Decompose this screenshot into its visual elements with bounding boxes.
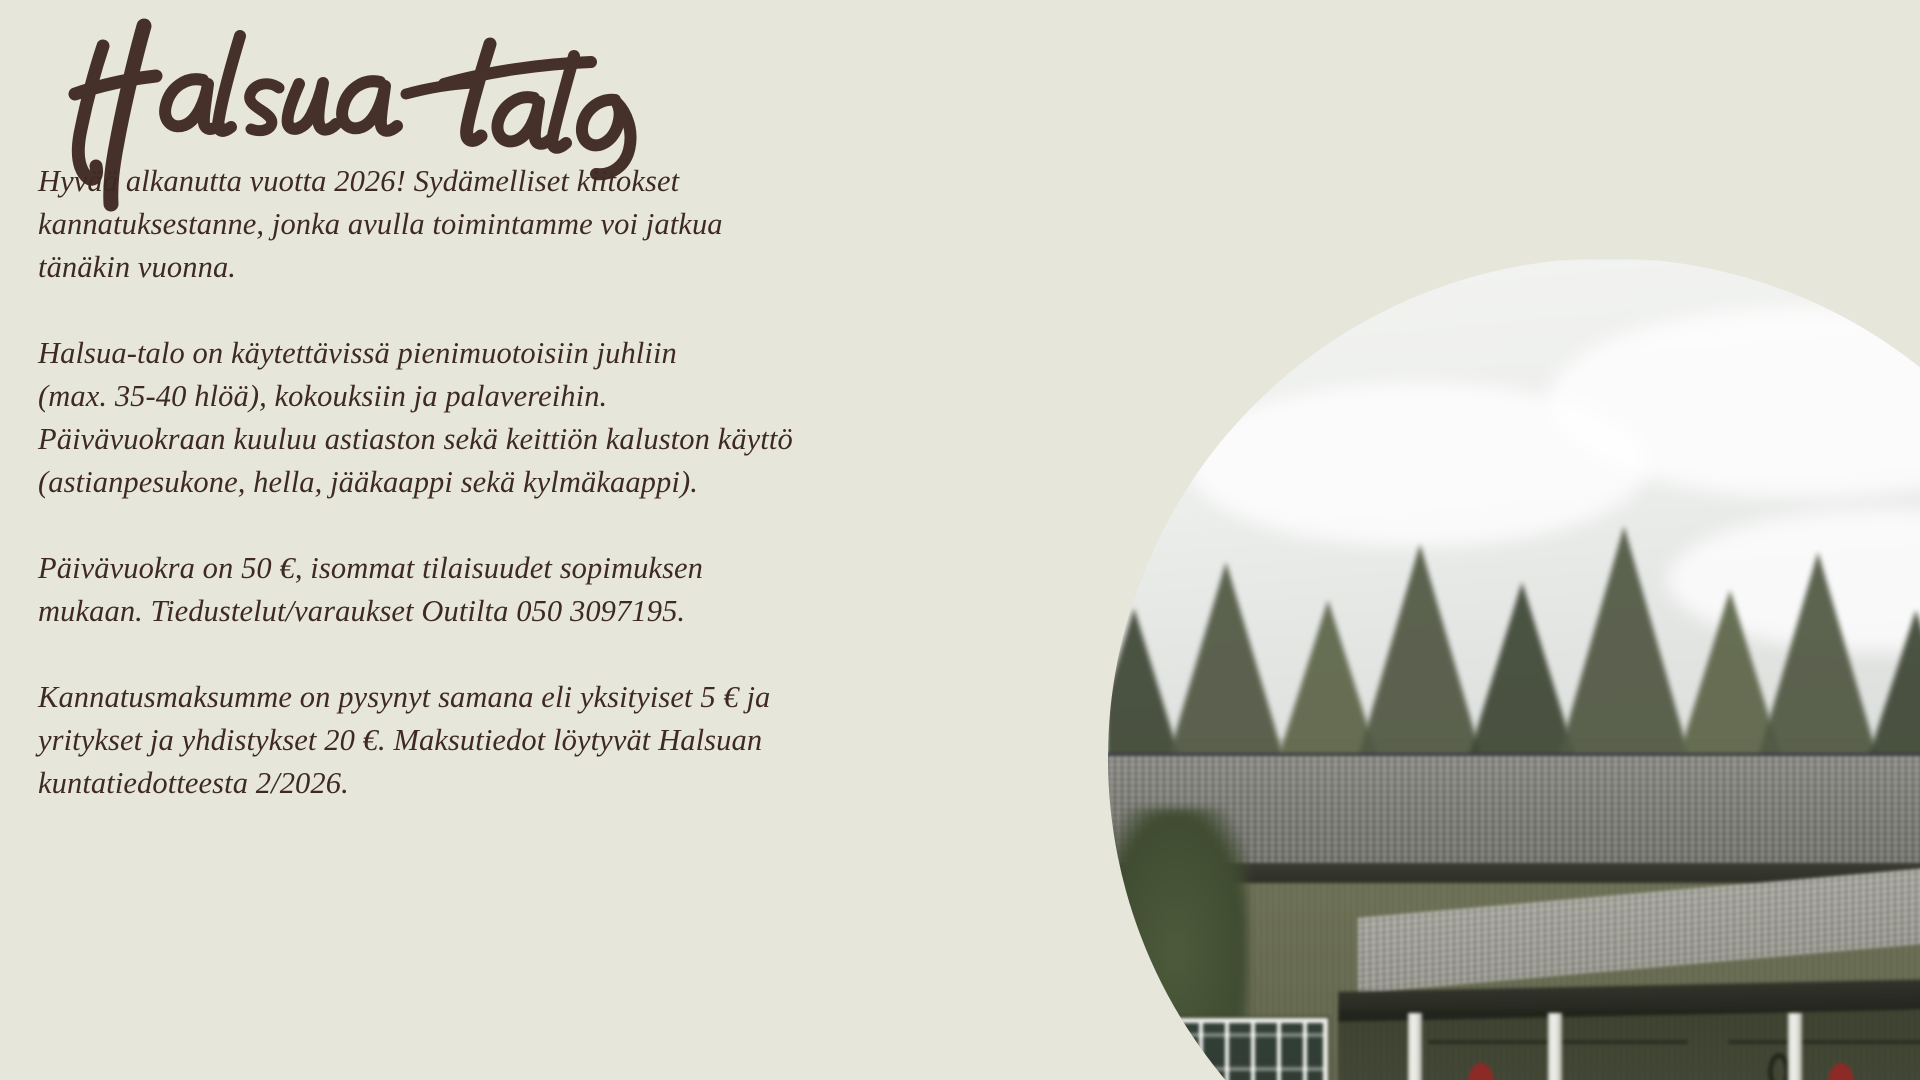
text-line: Hyvää alkanutta vuotta 2026! Sydämellise…	[38, 160, 898, 203]
porch-column	[1408, 1013, 1422, 1080]
building-photo	[1108, 258, 1920, 1080]
text-line: (astianpesukone, hella, jääkaappi sekä k…	[38, 461, 898, 504]
text-line: Päivävuokraan kuuluu astiaston sekä keit…	[38, 418, 898, 461]
text-line: Kannatusmaksumme on pysynyt samana eli y…	[38, 676, 898, 719]
text-line: kuntatiedotteesta 2/2026.	[38, 762, 898, 805]
paragraph-membership: Kannatusmaksumme on pysynyt samana eli y…	[38, 676, 898, 805]
text-line: Päivävuokra on 50 €, isommat tilaisuudet…	[38, 547, 898, 590]
paragraph-greeting: Hyvää alkanutta vuotta 2026! Sydämellise…	[38, 160, 898, 289]
window-left	[1168, 1018, 1328, 1080]
porch-column	[1548, 1013, 1562, 1080]
body-copy: Hyvää alkanutta vuotta 2026! Sydämellise…	[38, 160, 898, 805]
text-line: mukaan. Tiedustelut/varaukset Outilta 05…	[38, 590, 898, 633]
text-line: kannatuksestanne, jonka avulla toimintam…	[38, 203, 898, 246]
porch-column	[1788, 1013, 1802, 1080]
garland	[1728, 1040, 1920, 1044]
treeline	[1108, 418, 1920, 758]
text-line: tänäkin vuonna.	[38, 246, 898, 289]
santa-hat-decoration	[1468, 1063, 1494, 1080]
text-line: Halsua-talo on käytettävissä pienimuotoi…	[38, 332, 898, 375]
poster-canvas: Halsua-talo	[0, 0, 1920, 1080]
text-line: yritykset ja yhdistykset 20 €. Maksutied…	[38, 719, 898, 762]
paragraph-usage: Halsua-talo on käytettävissä pienimuotoi…	[38, 332, 898, 504]
paragraph-pricing: Päivävuokra on 50 €, isommat tilaisuudet…	[38, 547, 898, 633]
text-line: (max. 35-40 hlöä), kokouksiin ja palaver…	[38, 375, 898, 418]
santa-hat-decoration	[1828, 1063, 1854, 1080]
